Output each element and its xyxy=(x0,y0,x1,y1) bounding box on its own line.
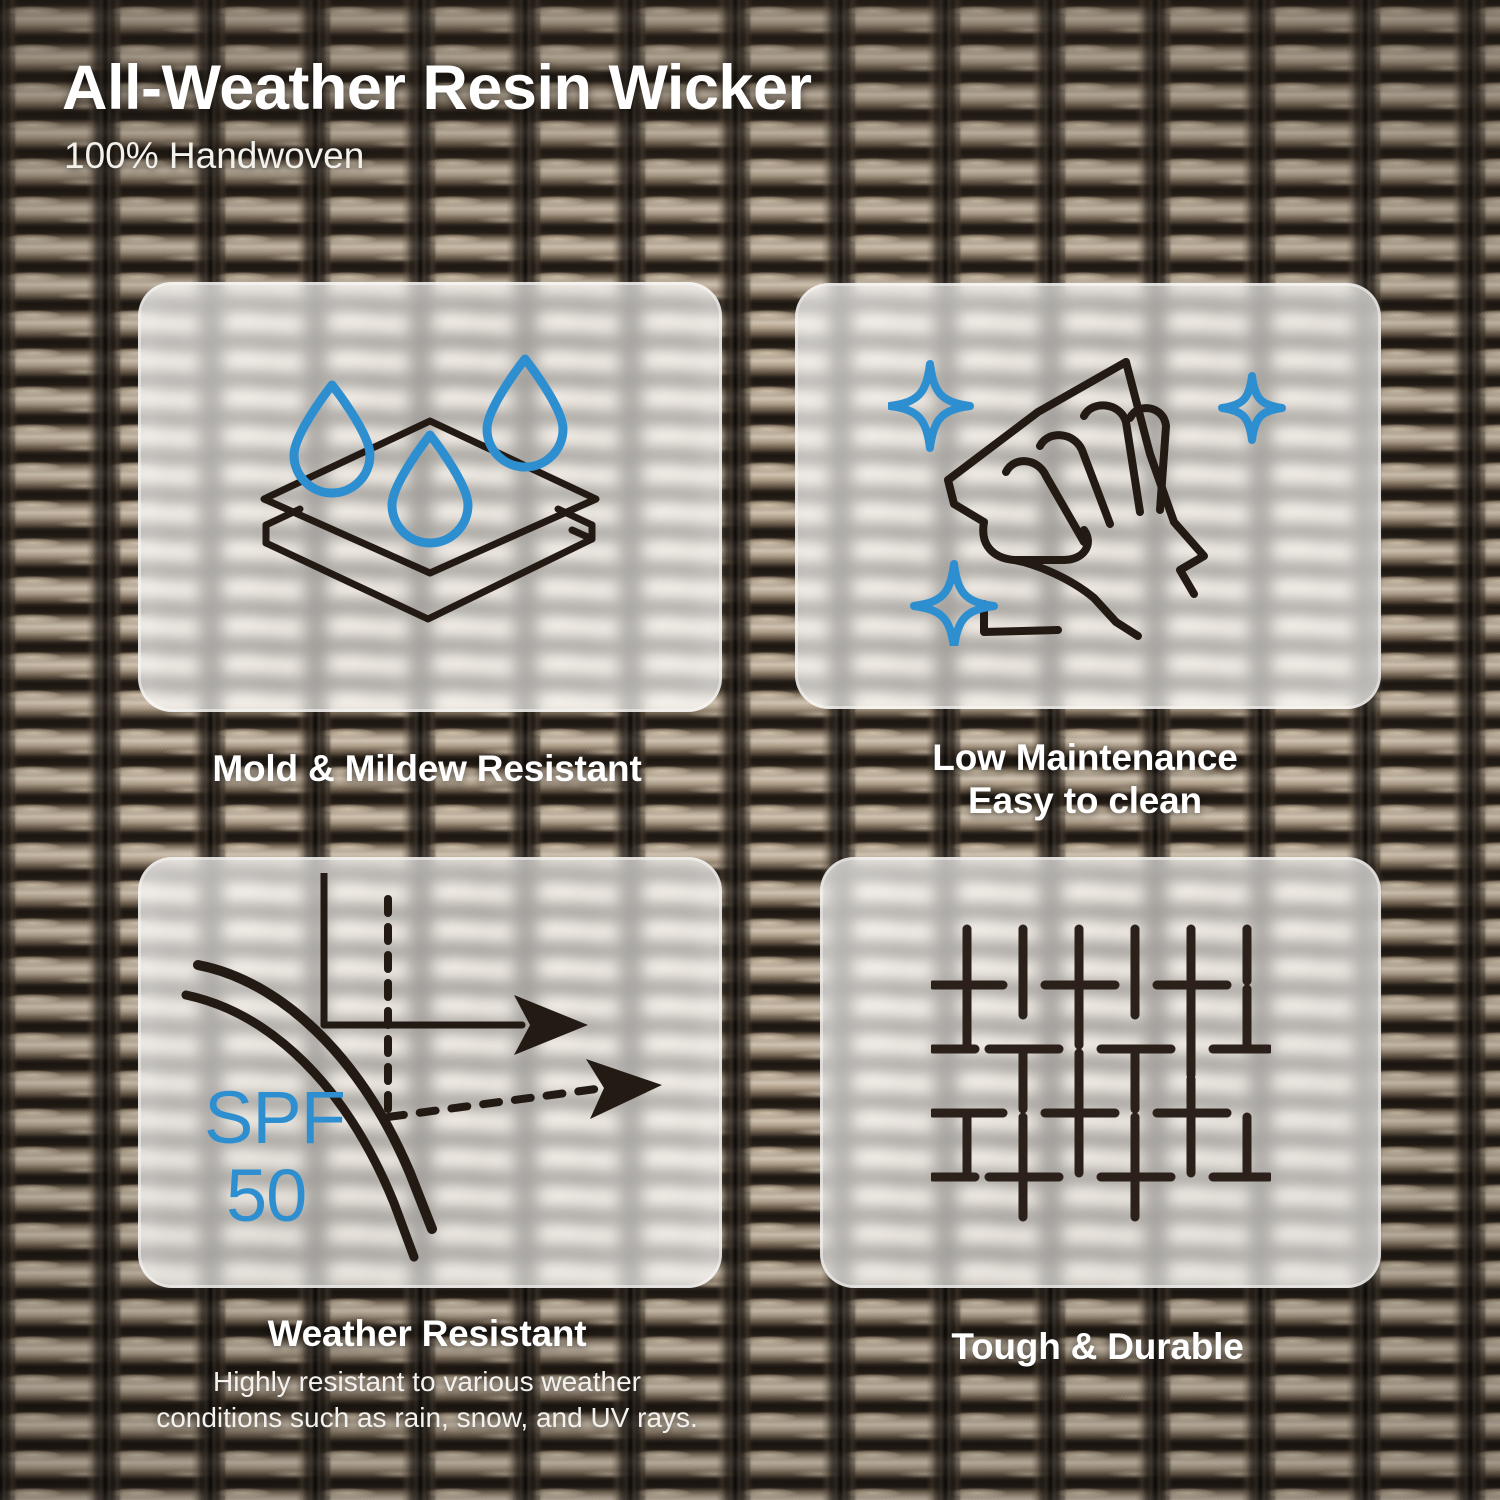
uv-ray-deflection-spf-icon: SPF 50 xyxy=(141,860,719,1285)
description-line-2: conditions such as rain, snow, and UV ra… xyxy=(98,1400,756,1436)
page-title: All-Weather Resin Wicker xyxy=(62,56,812,122)
caption-line-1: Low Maintenance xyxy=(795,736,1375,779)
basketweave-lattice-icon xyxy=(823,860,1378,1285)
feature-card-weather-resistant: SPF 50 xyxy=(138,857,722,1288)
description-line-1: Highly resistant to various weather xyxy=(98,1364,756,1400)
feature-description-weather-resistant: Highly resistant to various weather cond… xyxy=(98,1364,756,1437)
feature-card-mold-mildew xyxy=(138,282,722,712)
caption-line-2: Easy to clean xyxy=(795,779,1375,822)
infographic-canvas: All-Weather Resin Wicker 100% Handwoven xyxy=(0,0,1500,1500)
hand-wiping-cloth-sparkle-icon xyxy=(798,286,1378,706)
feature-caption-weather-resistant: Weather Resistant xyxy=(118,1312,736,1355)
feature-card-low-maintenance xyxy=(795,283,1381,709)
feature-card-tough-durable xyxy=(820,857,1381,1288)
spf-badge-line-2: 50 xyxy=(226,1154,306,1237)
feature-caption-low-maintenance: Low Maintenance Easy to clean xyxy=(795,736,1375,823)
page-subtitle: 100% Handwoven xyxy=(64,135,364,177)
feature-caption-mold-mildew: Mold & Mildew Resistant xyxy=(138,747,716,790)
spf-badge-line-1: SPF xyxy=(204,1076,345,1159)
feature-caption-tough-durable: Tough & Durable xyxy=(820,1325,1375,1368)
water-droplets-on-layers-icon xyxy=(141,285,719,709)
